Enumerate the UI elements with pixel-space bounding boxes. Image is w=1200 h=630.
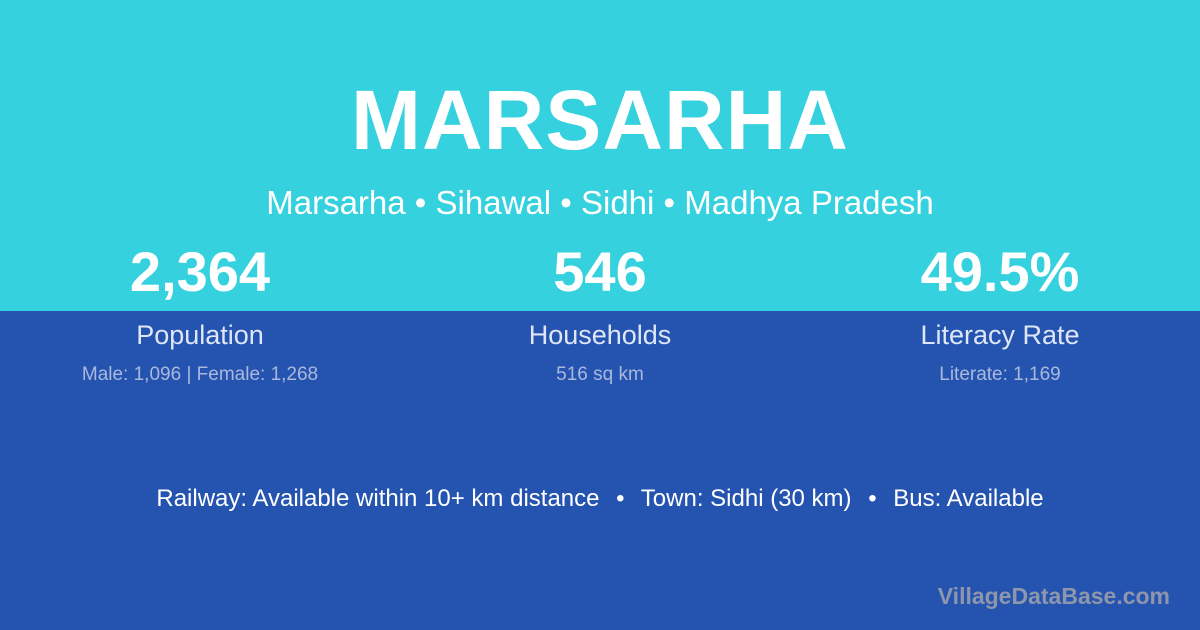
stat-value: 546 bbox=[400, 244, 800, 300]
stat-literacy-rate: 49.5% Literacy Rate Literate: 1,169 bbox=[800, 244, 1200, 384]
header: MARSARHA Marsarha • Sihawal • Sidhi • Ma… bbox=[0, 0, 1200, 219]
stat-households: 546 Households 516 sq km bbox=[400, 244, 800, 384]
stat-value: 49.5% bbox=[800, 244, 1200, 300]
stat-subtext: Literate: 1,169 bbox=[800, 365, 1200, 384]
stats-row: 2,364 Population Male: 1,096 | Female: 1… bbox=[0, 244, 1200, 384]
stat-label: Literacy Rate bbox=[800, 322, 1200, 349]
stat-value: 2,364 bbox=[0, 244, 400, 300]
site-watermark: VillageDataBase.com bbox=[938, 585, 1170, 608]
amenity-town: Town: Sidhi (30 km) bbox=[641, 485, 852, 512]
stat-population: 2,364 Population Male: 1,096 | Female: 1… bbox=[0, 244, 400, 384]
amenity-separator: • bbox=[606, 485, 634, 512]
page-title: MARSARHA bbox=[0, 0, 1200, 162]
stat-subtext: 516 sq km bbox=[400, 365, 800, 384]
breadcrumb: Marsarha • Sihawal • Sidhi • Madhya Prad… bbox=[0, 162, 1200, 219]
stat-label: Households bbox=[400, 322, 800, 349]
village-info-card: MARSARHA Marsarha • Sihawal • Sidhi • Ma… bbox=[0, 0, 1200, 630]
stat-subtext: Male: 1,096 | Female: 1,268 bbox=[0, 365, 400, 384]
amenity-railway: Railway: Available within 10+ km distanc… bbox=[156, 485, 599, 512]
amenities-line: Railway: Available within 10+ km distanc… bbox=[0, 487, 1200, 511]
amenity-bus: Bus: Available bbox=[893, 485, 1043, 512]
stat-label: Population bbox=[0, 322, 400, 349]
amenity-separator: • bbox=[858, 485, 886, 512]
